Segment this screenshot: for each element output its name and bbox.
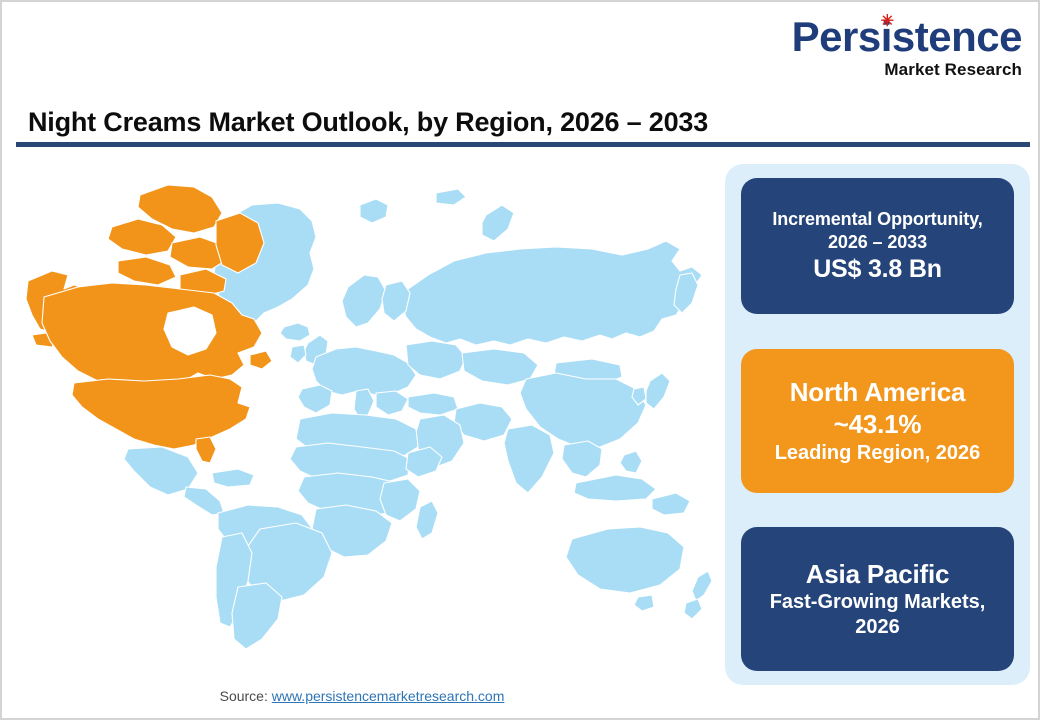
region-franz-josef xyxy=(436,189,466,205)
region-madagascar xyxy=(416,501,438,539)
kpi-north-america-share: ~43.1% xyxy=(834,408,922,441)
region-florida xyxy=(196,437,216,463)
brand-subtitle: Market Research xyxy=(790,61,1022,78)
kpi-north-america-region: North America xyxy=(790,376,966,409)
brand-asterisk-icon: ✳ xyxy=(881,14,894,30)
kpi-asia-pacific-caption2: 2026 xyxy=(855,615,900,640)
kpi-incremental-line2: 2026 – 2033 xyxy=(828,231,927,254)
region-new-zealand xyxy=(692,571,712,601)
kpi-north-america-caption: Leading Region, 2026 xyxy=(775,441,981,466)
region-iceland xyxy=(280,323,310,341)
region-india xyxy=(504,425,554,493)
source-line: Source: www.persistencemarketresearch.co… xyxy=(2,688,722,704)
region-russia xyxy=(402,241,702,345)
kpi-asia-pacific-caption1: Fast-Growing Markets, xyxy=(770,590,986,615)
region-turkey xyxy=(408,393,458,415)
map-highlight-north-america xyxy=(26,185,272,463)
region-ireland xyxy=(290,345,306,363)
region-southeast-asia xyxy=(562,441,602,477)
kpi-card-asia-pacific[interactable]: Asia Pacific Fast-Growing Markets, 2026 xyxy=(741,527,1014,671)
region-philippines xyxy=(620,451,642,473)
region-united-states xyxy=(72,375,250,449)
kpi-panel: Incremental Opportunity, 2026 – 2033 US$… xyxy=(725,164,1030,685)
region-indonesia xyxy=(574,475,656,501)
world-map xyxy=(16,157,716,667)
region-south-cone xyxy=(232,583,282,649)
region-novaya-zemlya xyxy=(482,205,514,241)
kpi-incremental-value: US$ 3.8 Bn xyxy=(813,254,942,285)
source-link[interactable]: www.persistencemarketresearch.com xyxy=(272,688,505,704)
region-new-zealand-south xyxy=(684,599,702,619)
region-balkans xyxy=(376,391,408,415)
infographic-page: Persistence ✳ Market Research Night Crea… xyxy=(0,0,1040,720)
title-divider xyxy=(16,142,1030,147)
kpi-incremental-line1: Incremental Opportunity, xyxy=(772,208,982,231)
region-japan xyxy=(646,373,670,409)
brand-wordmark-text: Persistence xyxy=(792,13,1022,60)
region-central-america xyxy=(184,487,224,515)
region-caribbean xyxy=(212,469,254,487)
region-iberia xyxy=(298,385,332,413)
world-map-svg xyxy=(16,157,716,667)
region-papua-new-guinea xyxy=(652,493,690,515)
kpi-card-north-america[interactable]: North America ~43.1% Leading Region, 202… xyxy=(741,349,1014,493)
region-africa-east xyxy=(380,479,420,521)
region-europe-west xyxy=(312,347,416,395)
region-svalbard xyxy=(360,199,388,223)
region-canada-arctic-4 xyxy=(118,257,176,285)
kpi-asia-pacific-region: Asia Pacific xyxy=(806,558,950,591)
source-label: Source: xyxy=(220,688,272,704)
region-tasmania xyxy=(634,595,654,611)
region-newfoundland xyxy=(250,351,272,369)
region-australia xyxy=(566,527,684,593)
page-title: Night Creams Market Outlook, by Region, … xyxy=(28,107,708,138)
region-scandinavia xyxy=(342,275,386,327)
brand-wordmark: Persistence ✳ xyxy=(792,16,1022,58)
brand-logo: Persistence ✳ Market Research xyxy=(790,16,1022,78)
kpi-card-incremental-opportunity[interactable]: Incremental Opportunity, 2026 – 2033 US$… xyxy=(741,178,1014,314)
